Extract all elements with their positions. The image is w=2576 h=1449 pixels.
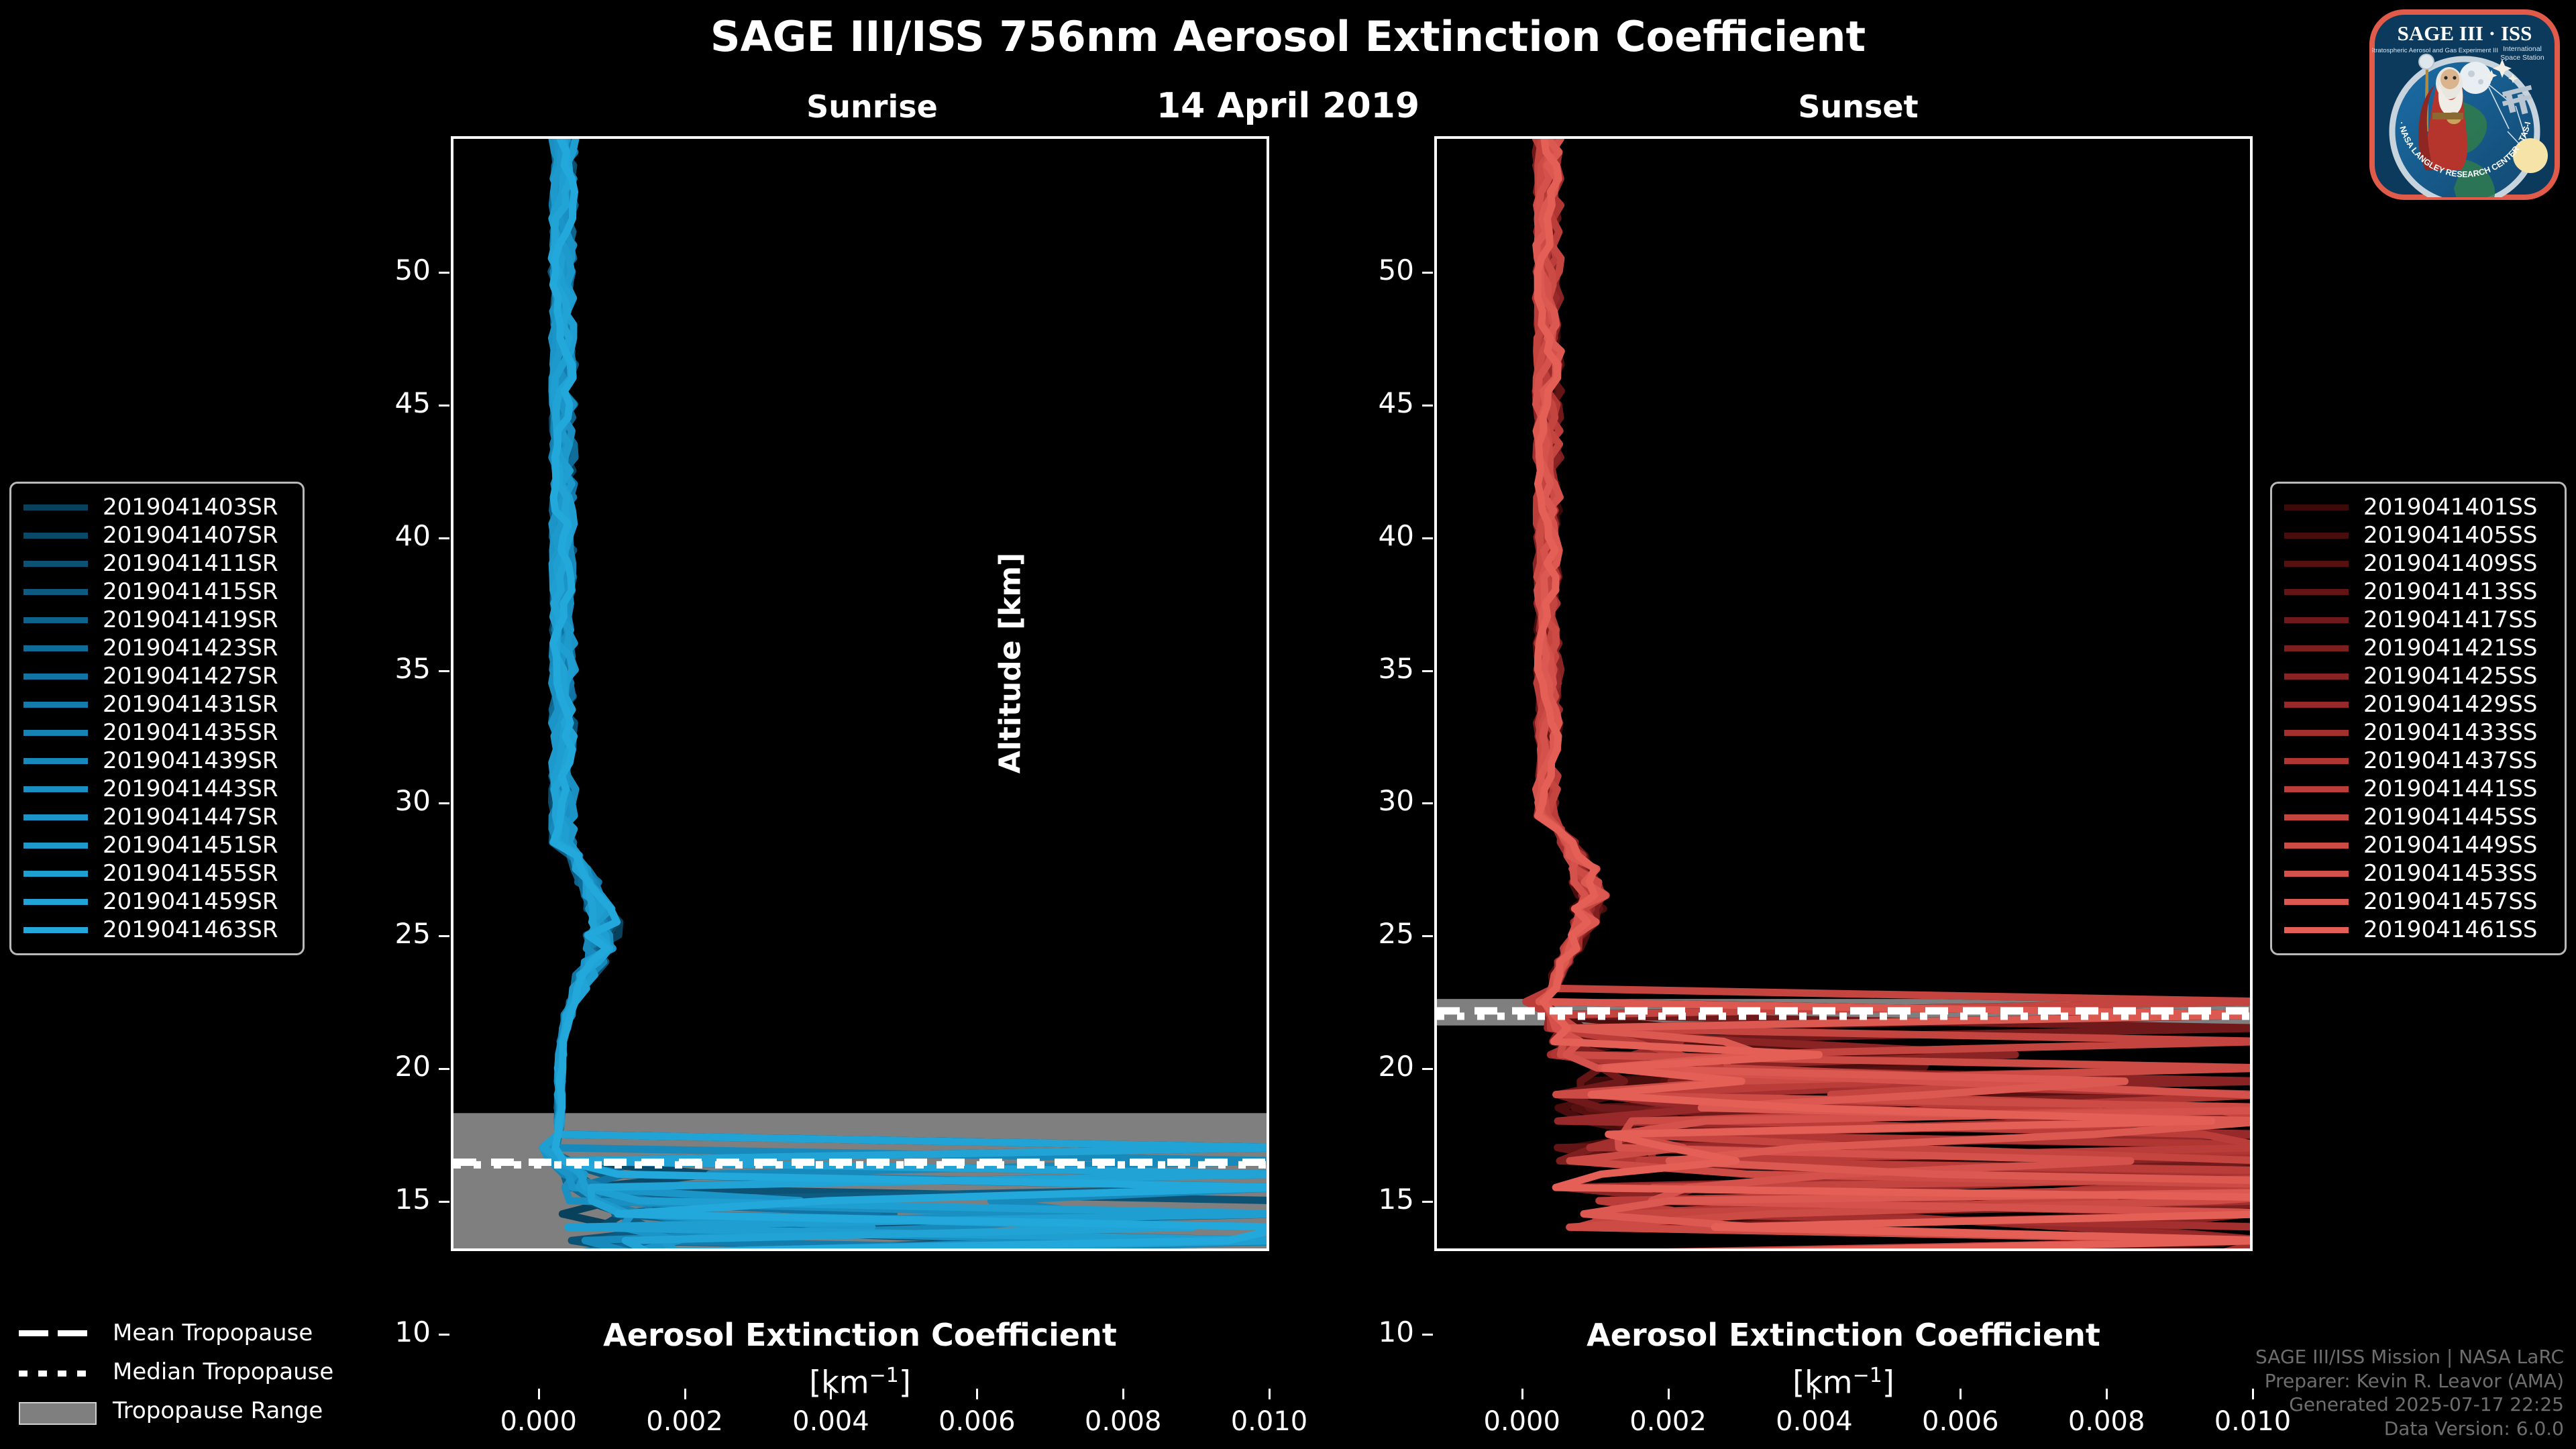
legend-item-label: 2019041431SR [103,691,278,718]
legend-color-swatch [23,871,88,877]
x-tick-label: 0.000 [472,1406,606,1437]
y-tick-mark [439,670,449,672]
legend-item-label: 2019041447SR [103,804,278,830]
legend-color-swatch [2284,814,2349,820]
y-tick-mark [1422,1068,1433,1070]
legend-color-swatch [2284,843,2349,849]
legend-item-label: 2019041439SR [103,747,278,774]
legend-item-label: 2019041437SS [2363,747,2537,774]
median-tropopause-label: Median Tropopause [113,1358,333,1385]
legend-item-label: 2019041443SR [103,775,278,802]
legend-color-swatch [2284,533,2349,539]
x-tick-label: 0.008 [2039,1406,2173,1437]
legend-color-swatch [23,758,88,764]
legend-color-swatch [2284,927,2349,933]
legend-item[interactable]: 2019041439SR [23,747,290,775]
legend-color-swatch [2284,730,2349,736]
legend-item[interactable]: 2019041431SR [23,690,290,718]
tropopause-range-swatch [19,1402,97,1419]
sunset-x-axis-units: [km−1] [1407,1364,2279,1400]
legend-item-label: 2019041405SS [2363,522,2537,549]
legend-color-swatch [23,645,88,651]
legend-item[interactable]: 2019041423SR [23,634,290,662]
credits-block: SAGE III/ISS Mission | NASA LaRC Prepare… [2255,1345,2564,1441]
y-tick-label: 15 [1334,1183,1414,1216]
y-tick-label: 45 [1334,386,1414,419]
profile-line[interactable] [553,139,1269,1251]
legend-item-label: 2019041409SS [2363,550,2537,577]
logo-subtitle-right-1: International [2503,45,2542,53]
legend-item[interactable]: 2019041407SR [23,521,290,549]
legend-item-label: 2019041411SR [103,550,278,577]
page-title: SAGE III/ISS 756nm Aerosol Extinction Co… [0,12,2576,61]
legend-item-label: 2019041435SR [103,719,278,746]
legend-item-label: 2019041419SR [103,606,278,633]
legend-color-swatch [23,786,88,792]
sunset-y-axis-label: Altitude [km] [994,529,1028,798]
legend-item-label: 2019041457SS [2363,888,2537,915]
sunset-plot-area[interactable] [1434,136,2253,1251]
legend-color-swatch [23,561,88,567]
legend-item-label: 2019041461SS [2363,916,2537,943]
y-tick-label: 35 [350,652,431,685]
y-tick-mark [1422,935,1433,937]
credit-line-4: Data Version: 6.0.0 [2255,1417,2564,1441]
tropopause-legend-mean-row: Mean Tropopause [19,1316,333,1350]
profile-line[interactable] [548,139,1269,1251]
legend-color-swatch [2284,758,2349,764]
legend-item-label: 2019041421SS [2363,635,2537,661]
sunrise-plot-area[interactable] [451,136,1269,1251]
legend-item[interactable]: 2019041425SS [2284,662,2553,690]
x-tick-label: 0.000 [1455,1406,1589,1437]
x-tick-label: 0.004 [763,1406,898,1437]
y-tick-mark [1422,802,1433,804]
sunrise-x-axis-units: [km−1] [424,1364,1296,1400]
legend-item-label: 2019041401SS [2363,494,2537,521]
legend-item-label: 2019041451SR [103,832,278,859]
legend-item-label: 2019041423SR [103,635,278,661]
y-tick-label: 30 [350,784,431,817]
sunset-legend[interactable]: 2019041401SS2019041405SS2019041409SS2019… [2270,482,2567,955]
legend-color-swatch [23,814,88,820]
legend-item-label: 2019041413SS [2363,578,2537,605]
legend-item-label: 2019041453SS [2363,860,2537,887]
legend-item-label: 2019041415SR [103,578,278,605]
y-tick-mark [439,935,449,937]
legend-item[interactable]: 2019041409SS [2284,549,2553,578]
y-tick-label: 40 [350,519,431,552]
logo-subtitle-left: Stratospheric Aerosol and Gas Experiment… [2369,47,2498,54]
tropopause-range-label: Tropopause Range [113,1397,323,1424]
legend-item[interactable]: 2019041403SR [23,493,290,521]
legend-color-swatch [2284,899,2349,905]
legend-item-label: 2019041459SR [103,888,278,915]
profile-line[interactable] [543,139,872,1251]
observation-date: 14 April 2019 [0,86,2576,126]
y-tick-mark [1422,670,1433,672]
legend-item-label: 2019041463SR [103,916,278,943]
legend-item[interactable]: 2019041417SS [2284,606,2553,634]
legend-item-label: 2019041403SR [103,494,278,521]
x-tick-label: 0.006 [1893,1406,2027,1437]
legend-color-swatch [2284,617,2349,623]
profile-line[interactable] [553,139,1269,1251]
legend-color-swatch [23,533,88,539]
legend-color-swatch [23,702,88,708]
sunrise-legend[interactable]: 2019041403SR2019041407SR2019041411SR2019… [9,482,305,955]
legend-color-swatch [23,899,88,905]
profile-line[interactable] [551,139,1269,1251]
legend-item-label: 2019041449SS [2363,832,2537,859]
sunrise-panel-label: Sunrise [704,89,1040,125]
y-tick-label: 10 [350,1316,431,1348]
legend-color-swatch [23,730,88,736]
legend-color-swatch [2284,589,2349,595]
legend-item[interactable]: 2019041401SS [2284,493,2553,521]
y-tick-mark [1422,272,1433,274]
legend-color-swatch [23,843,88,849]
legend-color-swatch [2284,674,2349,680]
legend-color-swatch [23,927,88,933]
legend-color-swatch [2284,561,2349,567]
y-tick-label: 30 [1334,784,1414,817]
tropopause-legend: Mean Tropopause Median Tropopause Tropop… [19,1316,333,1433]
legend-item[interactable]: 2019041413SS [2284,578,2553,606]
legend-color-swatch [23,617,88,623]
legend-item[interactable]: 2019041449SS [2284,831,2553,859]
legend-item-label: 2019041425SS [2363,663,2537,690]
sunrise-x-axis-title: Aerosol Extinction Coefficient [424,1317,1296,1353]
legend-item[interactable]: 2019041405SS [2284,521,2553,549]
profile-line[interactable] [547,139,1269,1251]
legend-item-label: 2019041433SS [2363,719,2537,746]
profile-line[interactable] [543,139,1269,1251]
legend-item[interactable]: 2019041433SS [2284,718,2553,747]
legend-item[interactable]: 2019041453SS [2284,859,2553,888]
legend-item[interactable]: 2019041443SR [23,775,290,803]
legend-item[interactable]: 2019041437SS [2284,747,2553,775]
legend-item-label: 2019041429SS [2363,691,2537,718]
y-tick-mark [439,272,449,274]
legend-item-label: 2019041455SR [103,860,278,887]
legend-item-label: 2019041407SR [103,522,278,549]
profile-line[interactable] [543,139,800,1251]
profile-line[interactable] [551,139,1269,1251]
y-tick-label: 20 [350,1050,431,1083]
legend-item[interactable]: 2019041463SR [23,916,290,944]
legend-color-swatch [23,504,88,511]
sunset-panel-label: Sunset [1690,89,2026,125]
legend-item[interactable]: 2019041455SR [23,859,290,888]
legend-item-label: 2019041445SS [2363,804,2537,830]
profile-line[interactable] [552,139,1269,1251]
y-tick-mark [439,1201,449,1203]
credit-line-1: SAGE III/ISS Mission | NASA LaRC [2255,1345,2564,1369]
legend-color-swatch [2284,702,2349,708]
y-tick-label: 50 [1334,254,1414,286]
legend-color-swatch [2284,786,2349,792]
legend-item[interactable]: 2019041435SR [23,718,290,747]
x-tick-label: 0.004 [1747,1406,1881,1437]
profile-line[interactable] [543,139,1269,1251]
legend-item[interactable]: 2019041415SR [23,578,290,606]
y-tick-label: 20 [1334,1050,1414,1083]
y-tick-mark [439,405,449,407]
legend-item[interactable]: 2019041461SS [2284,916,2553,944]
y-tick-label: 25 [350,917,431,950]
profile-line[interactable] [552,139,1269,1251]
mean-tropopause-dash-icon [19,1324,97,1342]
y-tick-label: 40 [1334,519,1414,552]
median-tropopause-dot-icon [19,1363,97,1381]
profile-line[interactable] [543,139,1269,1251]
y-tick-mark [1422,537,1433,539]
legend-item[interactable]: 2019041457SS [2284,888,2553,916]
legend-color-swatch [23,589,88,595]
x-tick-label: 0.010 [1202,1406,1336,1437]
y-tick-label: 45 [350,386,431,419]
legend-color-swatch [23,674,88,680]
legend-item[interactable]: 2019041429SS [2284,690,2553,718]
y-tick-label: 25 [1334,917,1414,950]
credit-line-2: Preparer: Kevin R. Leavor (AMA) [2255,1369,2564,1393]
legend-item[interactable]: 2019041441SS [2284,775,2553,803]
legend-item[interactable]: 2019041459SR [23,888,290,916]
legend-item[interactable]: 2019041445SS [2284,803,2553,831]
y-tick-mark [1422,405,1433,407]
y-tick-label: 10 [1334,1316,1414,1348]
logo-title: SAGE III · ISS [2398,21,2532,45]
legend-item[interactable]: 2019041419SR [23,606,290,634]
credit-line-3: Generated 2025-07-17 22:25 [2255,1393,2564,1417]
y-tick-label: 50 [350,254,431,286]
y-tick-mark [439,1068,449,1070]
legend-color-swatch [2284,871,2349,877]
sunset-x-axis-title: Aerosol Extinction Coefficient [1407,1317,2279,1353]
profile-line[interactable] [543,139,1038,1251]
x-tick-label: 0.008 [1056,1406,1190,1437]
legend-color-swatch [2284,504,2349,511]
sage-iii-iss-mission-patch-logo: SAGE III · ISS Stratospheric Aerosol and… [2364,4,2565,205]
y-tick-mark [439,537,449,539]
x-tick-label: 0.002 [1601,1406,1735,1437]
legend-item[interactable]: 2019041451SR [23,831,290,859]
legend-item[interactable]: 2019041421SS [2284,634,2553,662]
legend-color-swatch [2284,645,2349,651]
y-tick-label: 35 [1334,652,1414,685]
y-tick-mark [1422,1201,1433,1203]
legend-item-label: 2019041427SR [103,663,278,690]
legend-item-label: 2019041417SS [2363,606,2537,633]
y-tick-label: 15 [350,1183,431,1216]
x-tick-label: 0.002 [618,1406,752,1437]
mean-tropopause-label: Mean Tropopause [113,1320,313,1346]
y-tick-mark [439,802,449,804]
tropopause-legend-median-row: Median Tropopause [19,1355,333,1389]
legend-item[interactable]: 2019041447SR [23,803,290,831]
tropopause-legend-range-row: Tropopause Range [19,1394,333,1428]
legend-item[interactable]: 2019041427SR [23,662,290,690]
legend-item-label: 2019041441SS [2363,775,2537,802]
legend-item[interactable]: 2019041411SR [23,549,290,578]
x-tick-label: 0.006 [910,1406,1044,1437]
logo-subtitle-right-2: Space Station [2500,54,2544,62]
